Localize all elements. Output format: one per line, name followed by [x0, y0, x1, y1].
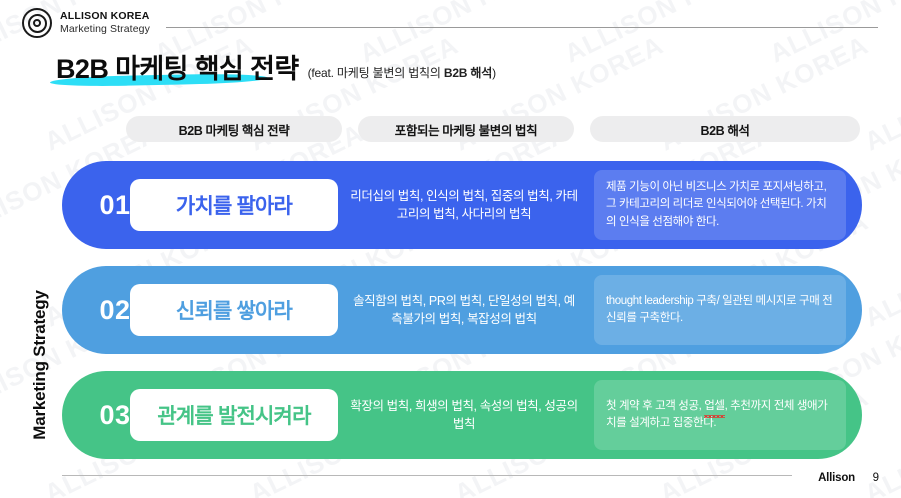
footer-brand: Allison	[818, 472, 855, 484]
row-strategy-label: 가치를 팔아라	[130, 179, 338, 231]
table-row: 03 관계를 발전시켜라 확장의 법칙, 희생의 법칙, 속성의 법칙, 성공의…	[62, 371, 862, 459]
spellcheck-flagged-word: 업셀	[704, 398, 724, 415]
row-insight-panel: 제품 기능이 아닌 비즈니스 가치로 포지셔닝하고, 그 카테고리의 리더로 인…	[594, 170, 846, 240]
brand-block: ALLISON KOREA Marketing Strategy	[60, 10, 150, 36]
row-strategy-label: 신뢰를 쌓아라	[130, 284, 338, 336]
row-insight-panel: 첫 계약 후 고객 성공, 업셀, 추천까지 전체 생애가치를 설계하고 집중한…	[594, 380, 846, 450]
column-header-interpretation: B2B 해석	[590, 116, 860, 142]
page-title: B2B 마케팅 핵심 전략	[56, 56, 299, 83]
column-headers: B2B 마케팅 핵심 전략 포함되는 마케팅 불변의 법칙 B2B 해석	[126, 116, 860, 142]
table-row: 01 가치를 팔아라 리더십의 법칙, 인식의 법칙, 집중의 법칙, 카테고리…	[62, 161, 862, 249]
slide-canvas: ALLISON KOREAALLISON KOREAALLISON KOREAA…	[0, 0, 901, 498]
column-header-laws: 포함되는 마케팅 불변의 법칙	[358, 116, 574, 142]
watermark-text: ALLISON KOREA	[860, 206, 901, 334]
subtitle-prefix: (feat. 마케팅 불변의 법칙의	[308, 66, 444, 80]
subtitle-suffix: )	[492, 66, 496, 80]
row-insight-text: thought leadership 구축/ 일관된 메시지로 구매 전 신뢰를…	[606, 293, 834, 328]
row-laws-text: 솔직함의 법칙, PR의 법칙, 단일성의 법칙, 예측불가의 법칙, 복잡성의…	[350, 266, 578, 354]
row-strategy-label: 관계를 발전시켜라	[130, 389, 338, 441]
row-laws-text: 리더십의 법칙, 인식의 법칙, 집중의 법칙, 카테고리의 법칙, 사다리의 …	[350, 161, 578, 249]
column-header-strategy: B2B 마케팅 핵심 전략	[126, 116, 342, 142]
title-subtitle: (feat. 마케팅 불변의 법칙의 B2B 해석)	[308, 64, 496, 83]
row-insight-panel: thought leadership 구축/ 일관된 메시지로 구매 전 신뢰를…	[594, 275, 846, 345]
insight-text-part1: 첫 계약 후 고객 성공,	[606, 400, 704, 412]
subtitle-bold: B2B 해석	[444, 66, 492, 80]
slide-header: ALLISON KOREA Marketing Strategy	[0, 0, 901, 46]
row-insight-text: 첫 계약 후 고객 성공, 업셀, 추천까지 전체 생애가치를 설계하고 집중한…	[606, 398, 834, 433]
watermark-text: ALLISON KOREA	[860, 30, 901, 158]
vertical-section-label: Marketing Strategy	[30, 265, 50, 465]
footer-divider	[62, 475, 792, 476]
table-row: 02 신뢰를 쌓아라 솔직함의 법칙, PR의 법칙, 단일성의 법칙, 예측불…	[62, 266, 862, 354]
watermark-text: ALLISON KOREA	[860, 382, 901, 498]
brand-name: ALLISON KOREA	[60, 10, 150, 23]
page-number: 9	[873, 472, 879, 484]
concentric-circles-logo-icon	[22, 8, 52, 38]
row-insight-text: 제품 기능이 아닌 비즈니스 가치로 포지셔닝하고, 그 카테고리의 리더로 인…	[606, 179, 834, 231]
title-block: B2B 마케팅 핵심 전략 (feat. 마케팅 불변의 법칙의 B2B 해석)	[56, 56, 496, 83]
header-divider	[166, 27, 878, 28]
row-laws-text: 확장의 법칙, 희생의 법칙, 속성의 법칙, 성공의 법칙	[350, 371, 578, 459]
brand-subtitle: Marketing Strategy	[60, 23, 150, 36]
